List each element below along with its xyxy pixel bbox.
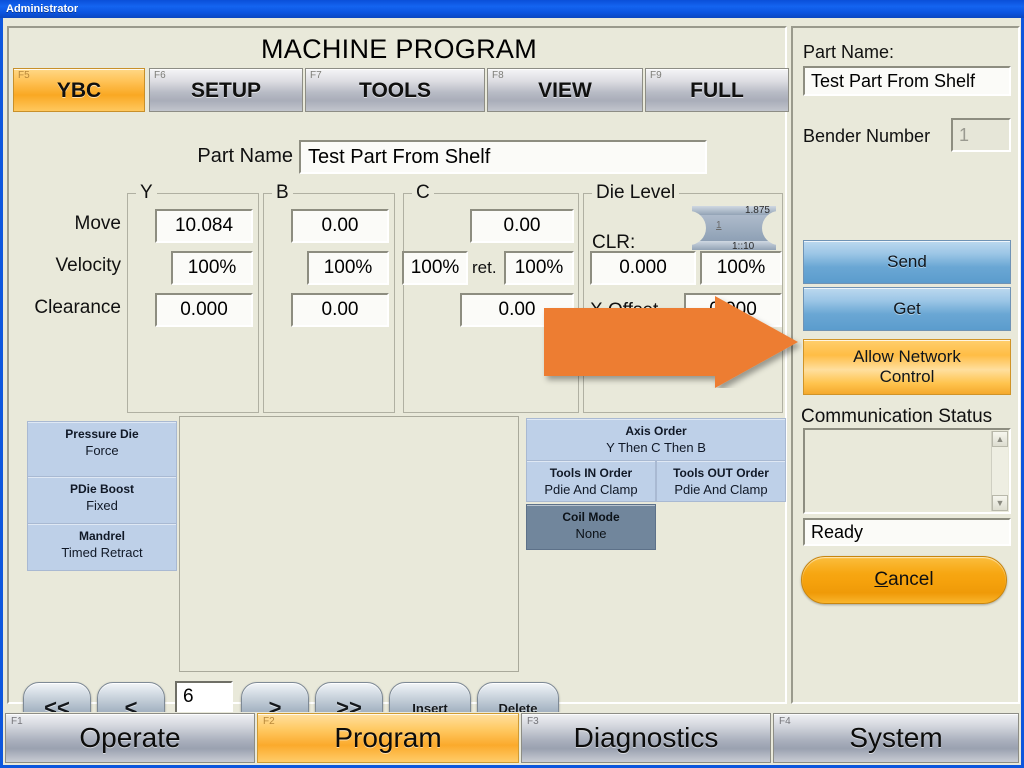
- b-clearance-field[interactable]: 0.00: [291, 293, 389, 327]
- cancel-button-label: Cancel: [874, 569, 933, 591]
- clr-velocity-field[interactable]: 100%: [700, 251, 782, 285]
- info-coil-mode[interactable]: Coil Mode None: [526, 504, 656, 550]
- y-velocity-field[interactable]: 100%: [171, 251, 253, 285]
- info-tools-out-order-value: Pdie And Clamp: [657, 482, 785, 497]
- clr-diagram-ratio-num: 1: [716, 220, 722, 231]
- y-move-field[interactable]: 10.084: [155, 209, 253, 243]
- info-tools-in-order-value: Pdie And Clamp: [527, 482, 655, 497]
- part-preview-canvas[interactable]: [179, 416, 519, 672]
- x-offset-label: X Offset: [590, 300, 658, 322]
- c-clearance-field[interactable]: 0.00: [460, 293, 574, 327]
- window-title: Administrator: [6, 3, 78, 15]
- info-tools-out-order[interactable]: Tools OUT Order Pdie And Clamp: [656, 460, 786, 502]
- bottom-tab-diagnostics-label: Diagnostics: [522, 722, 770, 754]
- info-mandrel-value: Timed Retract: [28, 545, 176, 560]
- send-button[interactable]: Send: [803, 240, 1011, 284]
- right-part-name-field[interactable]: Test Part From Shelf: [803, 66, 1011, 96]
- axis-group-die-level: Die Level CLR: 1.875 1 1::10 0.000 100%: [583, 193, 783, 413]
- x-offset-field[interactable]: 0.000: [684, 293, 782, 327]
- allow-network-control-button[interactable]: Allow Network Control: [803, 339, 1011, 395]
- axis-group-y: Y 10.084 100% 0.000: [127, 193, 259, 413]
- c-velocity-forward-field[interactable]: 100%: [402, 251, 468, 285]
- info-pressure-die-title: Pressure Die: [28, 427, 176, 441]
- part-name-input[interactable]: Test Part From Shelf: [299, 140, 707, 174]
- machine-program-screen: Administrator MACHINE PROGRAM F5 YBC F6 …: [0, 0, 1024, 768]
- content-area: MACHINE PROGRAM F5 YBC F6 SETUP F7 TOOLS…: [3, 20, 1021, 710]
- scroll-up-icon[interactable]: ▲: [992, 431, 1008, 447]
- scroll-down-icon[interactable]: ▼: [992, 495, 1008, 511]
- info-pressure-die-value: Force: [28, 443, 176, 458]
- info-axis-order-title: Axis Order: [527, 424, 785, 438]
- axis-group-c-title: C: [412, 182, 434, 204]
- bottom-tab-system[interactable]: F4 System: [773, 713, 1019, 763]
- network-transfer-panel: Part Name: Test Part From Shelf Bender N…: [791, 26, 1020, 704]
- communication-status-list[interactable]: ▲ ▼: [803, 428, 1011, 514]
- clr-value-field[interactable]: 0.000: [590, 251, 696, 285]
- top-tab-strip: F5 YBC F6 SETUP F7 TOOLS F8 VIEW F9 FU: [13, 68, 785, 112]
- tab-ybc-label: YBC: [14, 79, 144, 103]
- tab-tools-label: TOOLS: [306, 79, 484, 103]
- tab-full[interactable]: F9 FULL: [645, 68, 789, 112]
- b-velocity-field[interactable]: 100%: [307, 251, 389, 285]
- part-name-row: Part Name Test Part From Shelf: [9, 140, 789, 174]
- tab-view-label: VIEW: [488, 79, 642, 103]
- bottom-tab-operate[interactable]: F1 Operate: [5, 713, 255, 763]
- row-label-velocity: Velocity: [1, 255, 121, 277]
- tab-view[interactable]: F8 VIEW: [487, 68, 643, 112]
- window-titlebar: Administrator: [0, 0, 1024, 18]
- bender-number-field: 1: [951, 118, 1011, 152]
- bottom-tab-diagnostics[interactable]: F3 Diagnostics: [521, 713, 771, 763]
- clr-diagram-radius: 1.875: [745, 206, 770, 216]
- info-pdie-boost-value: Fixed: [28, 498, 176, 513]
- info-mandrel[interactable]: Mandrel Timed Retract: [27, 523, 177, 571]
- row-label-move: Move: [1, 213, 121, 235]
- info-axis-order-value: Y Then C Then B: [527, 440, 785, 455]
- tab-full-label: FULL: [646, 79, 788, 103]
- axis-group-c: C 0.00 100% ret. 100% 0.00: [403, 193, 579, 413]
- die-level-title: Die Level: [592, 182, 679, 204]
- info-tools-in-order-title: Tools IN Order: [527, 466, 655, 480]
- bottom-tab-program-label: Program: [258, 722, 518, 754]
- allow-network-control-label-wrap: Allow Network Control: [853, 347, 961, 386]
- info-coil-mode-title: Coil Mode: [527, 510, 655, 524]
- clr-diagram-ratio: 1::10: [732, 241, 754, 250]
- info-axis-order[interactable]: Axis Order Y Then C Then B: [526, 418, 786, 462]
- tab-tools[interactable]: F7 TOOLS: [305, 68, 485, 112]
- cancel-accel-char: C: [874, 569, 888, 590]
- right-part-name-label: Part Name:: [803, 42, 894, 63]
- info-pdie-boost[interactable]: PDie Boost Fixed: [27, 476, 177, 524]
- b-move-field[interactable]: 0.00: [291, 209, 389, 243]
- communication-status-scrollbar[interactable]: ▲ ▼: [991, 431, 1008, 511]
- tab-setup[interactable]: F6 SETUP: [149, 68, 303, 112]
- info-mandrel-title: Mandrel: [28, 529, 176, 543]
- axis-parameters-area: Move Velocity Clearance Y 10.084 100% 0.…: [9, 183, 789, 413]
- bottom-tab-system-label: System: [774, 722, 1018, 754]
- c-ret-label: ret.: [472, 258, 497, 278]
- communication-status-label: Communication Status: [801, 406, 992, 428]
- info-pressure-die[interactable]: Pressure Die Force: [27, 421, 177, 477]
- bender-number-label: Bender Number: [803, 126, 930, 147]
- info-pdie-boost-title: PDie Boost: [28, 482, 176, 496]
- axis-group-b: B 0.00 100% 0.00: [263, 193, 395, 413]
- info-tools-in-order[interactable]: Tools IN Order Pdie And Clamp: [526, 460, 656, 502]
- info-tools-out-order-title: Tools OUT Order: [657, 466, 785, 480]
- bottom-tab-program[interactable]: F2 Program: [257, 713, 519, 763]
- info-coil-mode-value: None: [527, 526, 655, 541]
- page-title: MACHINE PROGRAM: [9, 34, 789, 65]
- c-move-field[interactable]: 0.00: [470, 209, 574, 243]
- row-label-clearance: Clearance: [1, 297, 121, 319]
- tab-setup-label: SETUP: [150, 79, 302, 103]
- program-panel: MACHINE PROGRAM F5 YBC F6 SETUP F7 TOOLS…: [7, 26, 787, 704]
- bottom-tab-operate-label: Operate: [6, 722, 254, 754]
- y-clearance-field[interactable]: 0.000: [155, 293, 253, 327]
- part-name-label: Part Name: [187, 145, 293, 168]
- axis-group-y-title: Y: [136, 182, 157, 204]
- allow-network-control-line1: Allow Network: [853, 347, 961, 366]
- status-field: Ready: [803, 518, 1011, 546]
- cancel-button[interactable]: Cancel: [801, 556, 1007, 604]
- c-velocity-return-field[interactable]: 100%: [504, 251, 574, 285]
- clr-die-diagram-icon: 1.875 1 1::10: [692, 206, 776, 250]
- get-button[interactable]: Get: [803, 287, 1011, 331]
- allow-network-control-line2: Control: [880, 367, 935, 386]
- axis-group-b-title: B: [272, 182, 293, 204]
- tab-ybc[interactable]: F5 YBC: [13, 68, 145, 112]
- bottom-tab-bar: F1 Operate F2 Program F3 Diagnostics F4 …: [3, 712, 1021, 764]
- cancel-rest-text: ancel: [888, 569, 933, 590]
